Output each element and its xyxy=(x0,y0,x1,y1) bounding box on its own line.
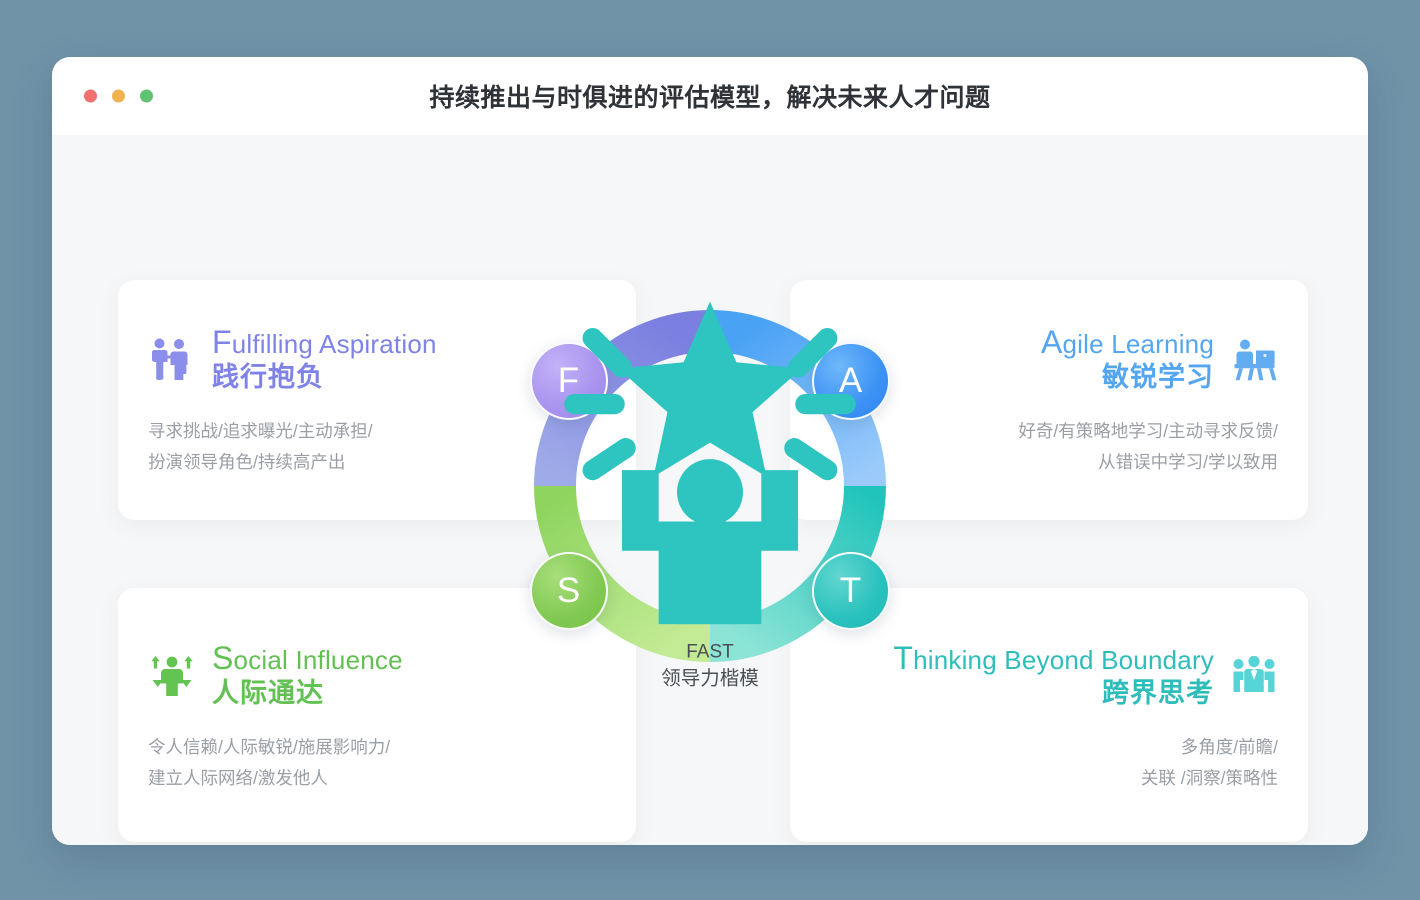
wheel-center-label: FAST 领导力楷模 xyxy=(661,639,759,692)
card-title-cn-s: 人际通达 xyxy=(212,676,403,711)
minimize-dot[interactable] xyxy=(112,90,125,103)
card-desc-line: 扮演领导角色/持续高产出 xyxy=(148,447,437,479)
card-title-en-f: Fulfilling Aspiration xyxy=(212,324,437,360)
card-header-t: Thinking Beyond Boundary 跨界思考 xyxy=(893,640,1278,712)
window-titlebar: 持续推出与时俱进的评估模型，解决未来人才问题 xyxy=(52,57,1368,135)
wheel-center-label-cn: 领导力楷模 xyxy=(661,666,759,693)
card-desc-line: 关联 /洞察/策略性 xyxy=(893,763,1278,795)
card-desc-line: 多角度/前瞻/ xyxy=(893,732,1278,764)
card-title-cn-a: 敏锐学习 xyxy=(1102,360,1214,395)
maximize-dot[interactable] xyxy=(140,90,153,103)
app-window: 持续推出与时俱进的评估模型，解决未来人才问题 xyxy=(52,57,1368,845)
wheel-center: FAST 领导力楷模 xyxy=(610,279,810,692)
card-desc-line: 寻求挑战/追求曝光/主动承担/ xyxy=(148,416,437,448)
card-title-en-a: Agile Learning xyxy=(1041,324,1214,360)
fast-wheel: F A S T xyxy=(534,310,886,662)
card-desc-line: 建立人际网络/激发他人 xyxy=(148,763,403,795)
wheel-center-label-en: FAST xyxy=(661,639,759,665)
card-title-en-s: Social Influence xyxy=(212,640,403,676)
card-title-en-t: Thinking Beyond Boundary xyxy=(893,640,1214,676)
three-people-team-icon xyxy=(1230,652,1278,700)
card-desc-line: 从错误中学习/学以致用 xyxy=(1018,447,1278,479)
card-desc-f: 寻求挑战/追求曝光/主动承担/ 扮演领导角色/持续高产出 xyxy=(148,416,437,480)
window-controls xyxy=(84,90,153,103)
page-title: 持续推出与时俱进的评估模型，解决未来人才问题 xyxy=(429,78,990,114)
card-header-a: Agile Learning 敏锐学习 xyxy=(1018,324,1278,396)
card-header-s: Social Influence 人际通达 xyxy=(148,640,403,712)
person-with-up-arrows-icon xyxy=(148,652,196,700)
card-title-cn-t: 跨界思考 xyxy=(1102,676,1214,711)
card-header-f: Fulfilling Aspiration 践行抱负 xyxy=(148,324,437,396)
card-title-cn-f: 践行抱负 xyxy=(212,360,437,395)
diagram-stage: Fulfilling Aspiration 践行抱负 寻求挑战/追求曝光/主动承… xyxy=(52,135,1368,845)
two-people-greeting-icon xyxy=(148,336,196,384)
card-desc-t: 多角度/前瞻/ 关联 /洞察/策略性 xyxy=(893,732,1278,796)
person-with-star-icon xyxy=(534,279,886,631)
close-dot[interactable] xyxy=(84,90,97,103)
card-desc-a: 好奇/有策略地学习/主动寻求反馈/ 从错误中学习/学以致用 xyxy=(1018,416,1278,480)
card-desc-line: 令人信赖/人际敏锐/施展影响力/ xyxy=(148,732,403,764)
person-at-desk-laptop-icon xyxy=(1230,336,1278,384)
card-desc-s: 令人信赖/人际敏锐/施展影响力/ 建立人际网络/激发他人 xyxy=(148,732,403,796)
card-desc-line: 好奇/有策略地学习/主动寻求反馈/ xyxy=(1018,416,1278,448)
